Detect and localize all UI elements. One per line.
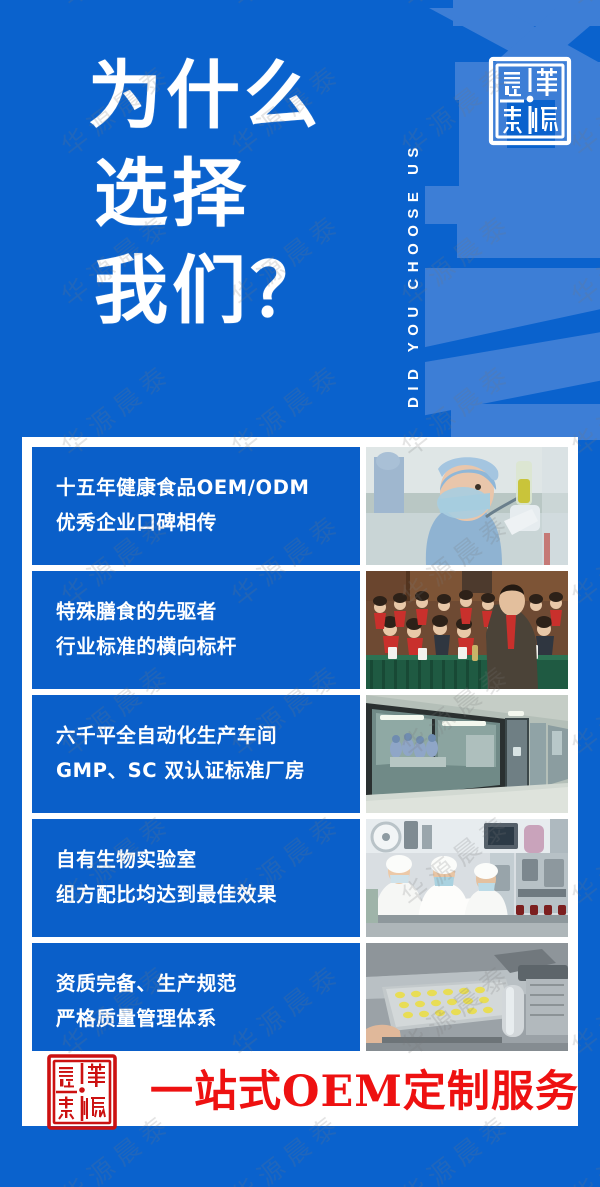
feature-card-photo-tablet-capsule-machine xyxy=(366,943,568,1061)
feature-card-list: 十五年健康食品OEM/ODM 优秀企业口碑相传 xyxy=(32,447,568,1067)
feature-card[interactable]: 资质完备、生产规范 严格质量管理体系 xyxy=(32,943,568,1061)
page-title: 为什么 选择 我们？ xyxy=(88,48,328,341)
feature-card[interactable]: 六千平全自动化生产车间 GMP、SC 双认证标准厂房 xyxy=(32,695,568,813)
feature-card-photo-lab-technician xyxy=(366,447,568,565)
feature-line: 六千平全自动化生产车间 xyxy=(56,719,360,754)
feature-card-photo-cleanroom-corridor xyxy=(366,695,568,813)
feature-line: 行业标准的横向标杆 xyxy=(56,630,360,665)
watermark-text: 华源晨泰 xyxy=(0,653,9,763)
feature-line: 特殊膳食的先驱者 xyxy=(56,595,360,630)
headline-line-1: 为什么 xyxy=(88,48,328,146)
header-section: 为什么 选择 我们？ DID YOU CHOOSE US xyxy=(0,0,600,437)
logo-seal-red-icon xyxy=(44,1051,120,1133)
feature-card-photo-production-line-workers xyxy=(366,819,568,937)
feature-card-text: 十五年健康食品OEM/ODM 优秀企业口碑相传 xyxy=(32,447,360,565)
logo-seal-icon xyxy=(484,52,576,150)
watermark-text: 华源晨泰 xyxy=(0,503,9,613)
feature-line: 严格质量管理体系 xyxy=(56,1002,360,1037)
feature-card-photo-conference-audience xyxy=(366,571,568,689)
feature-line: 十五年健康食品OEM/ODM xyxy=(56,471,360,506)
poster-root: 为什么 选择 我们？ DID YOU CHOOSE US xyxy=(0,0,600,1187)
feature-line: GMP、SC 双认证标准厂房 xyxy=(56,754,360,789)
feature-card[interactable]: 自有生物实验室 组方配比均达到最佳效果 xyxy=(32,819,568,937)
feature-line: 自有生物实验室 xyxy=(56,843,360,878)
feature-line: 优秀企业口碑相传 xyxy=(56,506,360,541)
feature-card[interactable]: 十五年健康食品OEM/ODM 优秀企业口碑相传 xyxy=(32,447,568,565)
feature-card-text: 特殊膳食的先驱者 行业标准的横向标杆 xyxy=(32,571,360,689)
headline-line-2: 选择 xyxy=(88,146,328,244)
content-panel: 十五年健康食品OEM/ODM 优秀企业口碑相传 xyxy=(22,437,578,1126)
headline-line-3: 我们？ xyxy=(88,243,328,341)
feature-line: 资质完备、生产规范 xyxy=(56,967,360,1002)
feature-card[interactable]: 特殊膳食的先驱者 行业标准的横向标杆 xyxy=(32,571,568,689)
watermark-text: 华源晨泰 xyxy=(0,1103,9,1187)
watermark-text: 华源晨泰 xyxy=(0,803,9,913)
feature-line: 组方配比均达到最佳效果 xyxy=(56,878,360,913)
watermark-text: 华源晨泰 xyxy=(0,953,9,1063)
bottom-banner-title: 一站式OEM定制服务 xyxy=(150,1056,579,1118)
vertical-english-tagline: DID YOU CHOOSE US xyxy=(405,18,439,408)
feature-card-text: 资质完备、生产规范 严格质量管理体系 xyxy=(32,943,360,1061)
feature-card-text: 自有生物实验室 组方配比均达到最佳效果 xyxy=(32,819,360,937)
feature-card-text: 六千平全自动化生产车间 GMP、SC 双认证标准厂房 xyxy=(32,695,360,813)
